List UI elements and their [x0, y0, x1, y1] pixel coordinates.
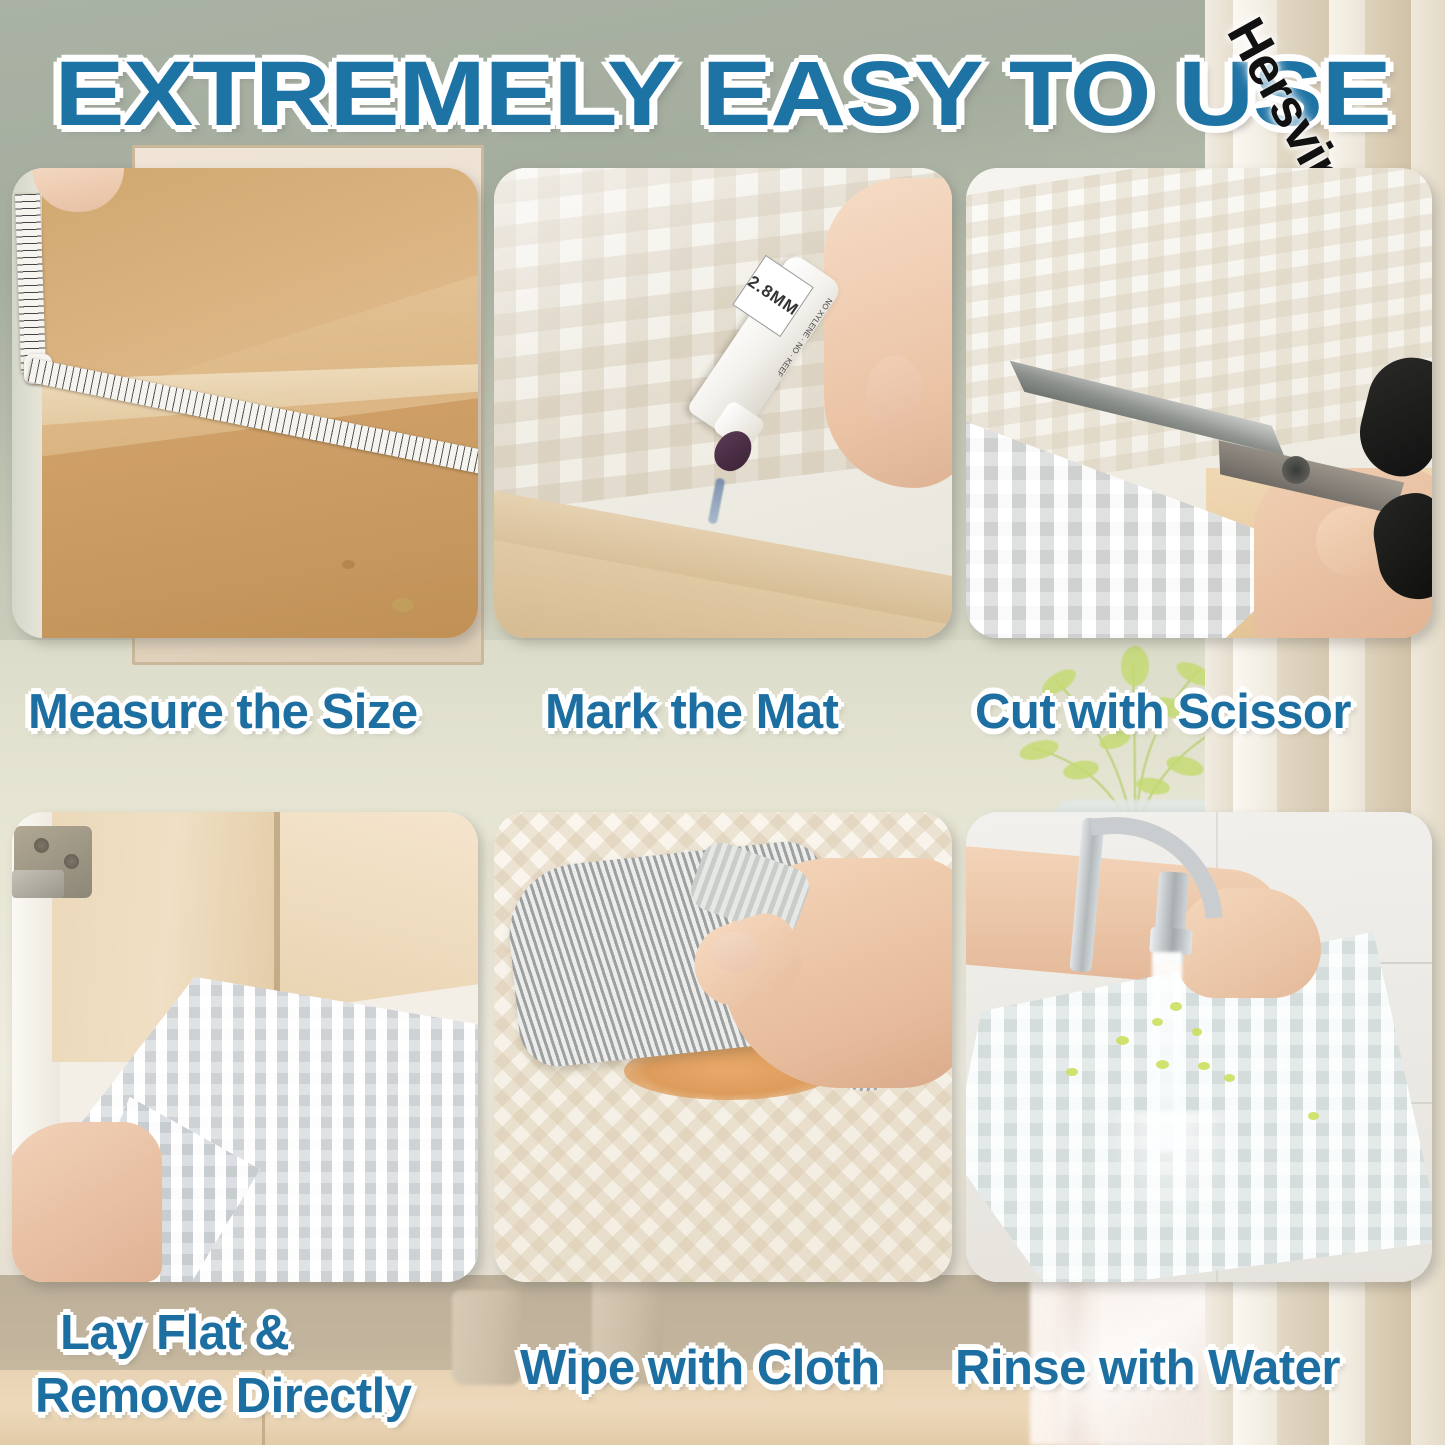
scissor-pivot-screw	[1282, 456, 1310, 484]
step-3-photo	[966, 168, 1432, 638]
step-1-caption: Measure the Size	[28, 684, 418, 740]
step-4-photo	[12, 812, 478, 1282]
wiping-mat-with-cloth-photo	[494, 812, 952, 1282]
step-4-caption-line-1: Lay Flat &	[60, 1305, 289, 1361]
food-crumb	[1066, 1068, 1078, 1076]
cabinet-side-panel	[280, 812, 478, 1012]
food-crumb	[1308, 1112, 1319, 1120]
step-1-photo	[12, 168, 478, 638]
food-crumb	[1156, 1060, 1169, 1069]
food-crumb	[1192, 1028, 1202, 1036]
cabinet-hinge-arm	[12, 870, 64, 898]
step-5-caption: Wipe with Cloth	[520, 1340, 880, 1396]
food-crumb	[1152, 1018, 1163, 1026]
hand-lifting-liner	[12, 1122, 162, 1282]
step-2-caption: Mark the Mat	[545, 684, 839, 740]
measuring-tape-on-shelf-photo	[12, 168, 478, 638]
step-6-photo	[966, 812, 1432, 1282]
hinge-screw-2	[64, 854, 79, 869]
food-crumb	[1116, 1036, 1129, 1045]
food-crumb	[1170, 1002, 1182, 1011]
rinsing-mat-under-tap-photo	[966, 812, 1432, 1282]
liner-laid-in-cabinet-photo	[12, 812, 478, 1282]
step-6-caption: Rinse with Water	[955, 1340, 1340, 1396]
food-crumb	[1198, 1062, 1210, 1070]
marker-pen-on-mat-photo: 2.8MM NO XYLENE · NO · KEEP CAP FIRM	[494, 168, 952, 638]
thumb	[824, 178, 952, 488]
cabinet-corner-seam	[274, 812, 280, 992]
step-4-caption-line-2: Remove Directly	[35, 1368, 412, 1424]
hinge-screw-1	[34, 838, 49, 853]
step-3-caption: Cut with Scissor	[975, 684, 1351, 740]
shelf-screw	[392, 598, 414, 612]
food-crumb	[1224, 1074, 1235, 1082]
water-splash	[1106, 1112, 1236, 1222]
thumbnail	[712, 932, 758, 972]
step-5-photo	[494, 812, 952, 1282]
scissors-cutting-mat-photo	[966, 168, 1432, 638]
step-2-photo: 2.8MM NO XYLENE · NO · KEEP CAP FIRM	[494, 168, 952, 638]
infographic-foreground: EXTREMELY EASY TO USE Hersvin	[0, 0, 1445, 1445]
thumbnail	[866, 356, 924, 434]
wood-knot	[342, 560, 355, 569]
